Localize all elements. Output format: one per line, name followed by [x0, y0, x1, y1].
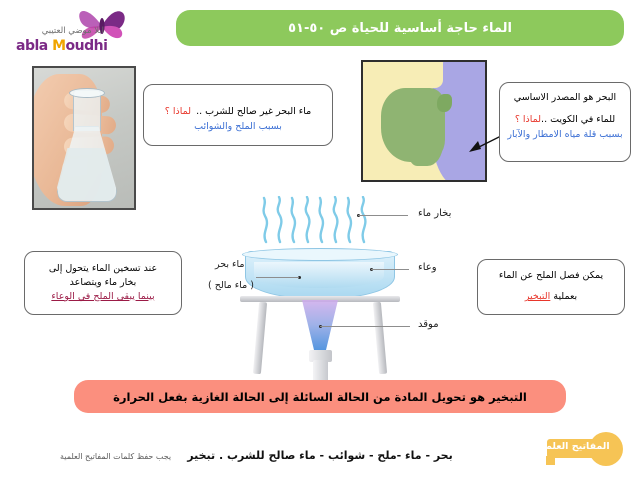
- definition-banner: التبخير هو تحويل المادة من الحالة السائل…: [74, 380, 566, 413]
- callout-highlight: لماذا ؟: [515, 114, 541, 125]
- footer-note: يجب حفظ كلمات المفاتيح العلمية: [60, 452, 171, 461]
- logo-latin-suffix: oudhi: [66, 38, 108, 54]
- callout-line: للماء في الكويت ..لماذا ؟: [506, 105, 624, 128]
- label-water-vapor: بخار ماء: [418, 208, 451, 219]
- map-land-region: [409, 118, 443, 166]
- slide-canvas: ابلا موضي العتيبي abla Moudhi الماء حاجة…: [0, 0, 640, 480]
- page-title: الماء حاجة أساسية للحياة ص ٥٠-٥١: [288, 21, 512, 36]
- dish-liquid: [254, 262, 384, 288]
- callout-text: البحر هو المصدر الاساسي: [506, 91, 624, 105]
- callout-line: بعملية التبخير: [484, 282, 618, 305]
- map-coastline-notch: [421, 62, 443, 88]
- callout-highlight: لماذا ؟: [165, 106, 191, 117]
- steam-icon: [258, 196, 380, 244]
- leader-line-vapor: [358, 215, 408, 216]
- leader-line-sea-water: [256, 277, 299, 278]
- flask-liquid: [57, 148, 115, 200]
- label-salty-water: ( ماء مالح ): [208, 280, 254, 291]
- label-burner: موقد: [418, 319, 439, 330]
- leader-line-vessel: [371, 269, 409, 270]
- definition-text: التبخير هو تحويل المادة من الحالة السائل…: [113, 390, 527, 404]
- callout-answer: بسبب قلة مياه الامطار والآبار: [506, 128, 624, 142]
- callout-text: بعملية: [550, 291, 577, 302]
- callout-text: عند تسخين الماء يتحول إلى: [31, 262, 175, 276]
- evaporation-apparatus: [240, 196, 400, 376]
- dish-rim: [242, 248, 398, 261]
- callout-text: بخار ماء ويتصاعد: [31, 276, 175, 290]
- callout-text: ماء البحر غير صالح للشرب ..: [196, 106, 311, 117]
- logo-latin-prefix: abla: [16, 38, 52, 54]
- logo-latin-highlight: M: [52, 38, 65, 54]
- stand-leg: [373, 302, 387, 374]
- brand-logo: ابلا موضي العتيبي abla Moudhi: [12, 2, 132, 54]
- title-banner: الماء حاجة أساسية للحياة ص ٥٠-٥١: [176, 10, 624, 46]
- callout-salt-separation: يمكن فصل الملح عن الماء بعملية التبخير: [477, 259, 625, 315]
- callout-text: يمكن فصل الملح عن الماء: [484, 269, 618, 283]
- flask-lip: [69, 88, 105, 98]
- callout-line: ماء البحر غير صالح للشرب .. لماذا ؟: [150, 97, 326, 120]
- callout-heating-water: عند تسخين الماء يتحول إلى بخار ماء ويتصا…: [24, 251, 182, 315]
- logo-latin-name: abla Moudhi: [16, 38, 107, 54]
- leader-line-burner: [320, 326, 410, 327]
- callout-highlight: بينما يبقى الملح في الوعاء: [31, 290, 175, 304]
- label-vessel: وعاء: [418, 262, 437, 273]
- callout-sea-main-source: البحر هو المصدر الاساسي للماء في الكويت …: [499, 82, 631, 162]
- map-island: [437, 94, 452, 112]
- kuwait-map: [361, 60, 487, 182]
- callout-text: للماء في الكويت ..: [541, 114, 615, 125]
- callout-highlight: التبخير: [525, 291, 551, 302]
- conical-flask-icon: [56, 90, 116, 202]
- label-sea-water: ماء بحر: [215, 259, 245, 270]
- callout-sea-water-not-drinkable: ماء البحر غير صالح للشرب .. لماذا ؟ بسبب…: [143, 84, 333, 146]
- flask-photo: [32, 66, 136, 210]
- callout-answer: بسبب الملح والشوائب: [150, 120, 326, 134]
- stand-leg: [253, 302, 267, 374]
- logo-arabic-name: ابلا موضي العتيبي: [42, 26, 104, 36]
